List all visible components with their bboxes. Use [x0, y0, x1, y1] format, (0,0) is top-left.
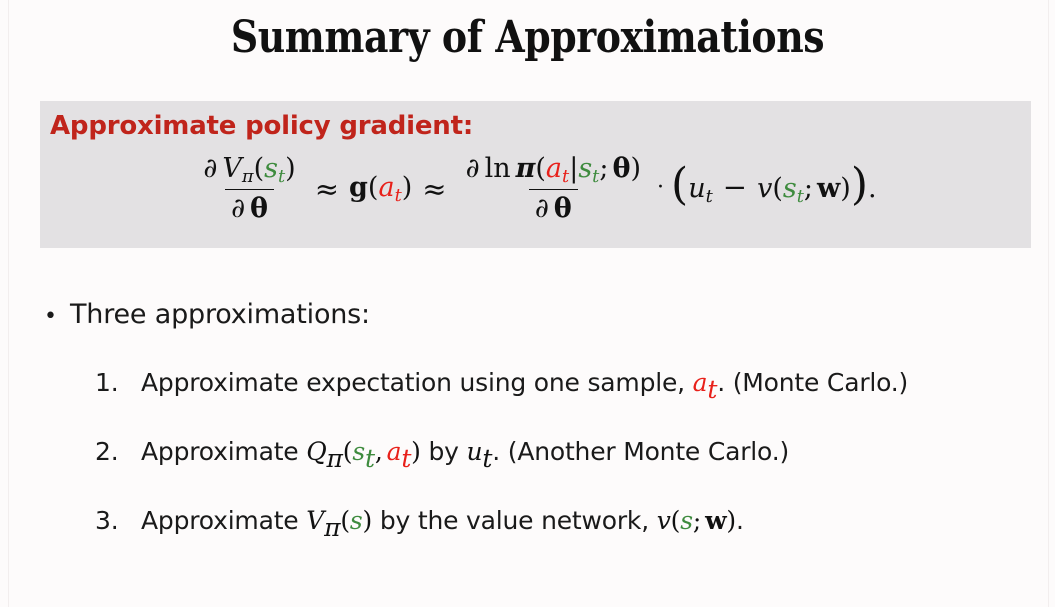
action-symbol: a	[693, 368, 708, 397]
left-fraction-denominator: ∂θ	[225, 189, 274, 224]
state-symbol: s	[578, 153, 592, 184]
list-item-prefix: Approximate expectation using one sample…	[141, 368, 693, 397]
close-paren: )	[630, 153, 641, 184]
comma: ,	[375, 437, 383, 466]
open-paren: (	[671, 506, 681, 535]
semicolon: ;	[804, 173, 813, 204]
left-fraction: ∂Vπ(st) ∂θ	[197, 153, 301, 225]
minus-symbol: −	[723, 170, 747, 204]
right-fraction-denominator: ∂θ	[529, 189, 578, 224]
return-symbol: u	[688, 173, 705, 204]
action-value-function-symbol: Q	[306, 437, 326, 466]
weights-symbol: w	[705, 506, 726, 535]
bullet-label: Three approximations:	[70, 299, 370, 330]
value-function-subscript: π	[242, 166, 254, 187]
state-symbol: s	[352, 437, 365, 466]
action-symbol: a	[378, 172, 394, 203]
bullet-dot-icon: •	[44, 306, 70, 328]
list-item-prefix: Approximate	[141, 506, 306, 535]
theta-symbol: θ	[250, 193, 268, 224]
list-item-text: Approximate Vπ(s) by the value network, …	[141, 506, 744, 542]
big-open-paren: (	[671, 159, 688, 210]
partial-symbol: ∂	[231, 193, 245, 224]
value-function-symbol: V	[306, 506, 324, 535]
list-item-marker: 2.	[95, 437, 141, 466]
open-paren: (	[254, 153, 265, 184]
action-subscript: t	[707, 375, 717, 404]
value-network-symbol: v	[657, 506, 671, 535]
partial-symbol: ∂	[535, 193, 549, 224]
right-fraction-numerator: ∂lnπ(at|st;θ)	[460, 153, 647, 189]
slide-left-edge	[8, 0, 9, 607]
semicolon: ;	[693, 506, 701, 535]
open-paren: (	[772, 173, 783, 204]
list-item-middle: by	[421, 437, 467, 466]
theta-symbol: θ	[554, 193, 572, 224]
action-subscript: t	[395, 185, 402, 206]
close-paren: )	[726, 506, 736, 535]
state-symbol: s	[680, 506, 693, 535]
dot-operator: ·	[657, 175, 664, 200]
state-symbol: s	[783, 173, 797, 204]
list-item-middle: by the value network,	[372, 506, 657, 535]
conditional-bar: |	[569, 153, 578, 184]
list-item-marker: 1.	[95, 368, 141, 397]
partial-symbol: ∂	[466, 153, 480, 184]
weights-symbol: w	[817, 173, 840, 204]
left-fraction-numerator: ∂Vπ(st)	[197, 153, 301, 189]
return-symbol: u	[467, 437, 483, 466]
theta-symbol: θ	[612, 153, 630, 184]
state-subscript: t	[365, 444, 375, 473]
list-item-suffix: . (Another Monte Carlo.)	[492, 437, 789, 466]
return-subscript: t	[706, 186, 713, 207]
return-subscript: t	[482, 444, 492, 473]
formula-panel: Approximate policy gradient: ∂Vπ(st) ∂θ …	[40, 101, 1031, 248]
action-value-function-subscript: π	[327, 444, 343, 473]
formula-panel-heading: Approximate policy gradient:	[50, 111, 473, 141]
slide-right-edge	[1048, 0, 1049, 607]
gradient-symbol: g	[349, 172, 368, 203]
natural-log-symbol: ln	[485, 153, 511, 184]
bullet-line: • Three approximations:	[44, 299, 1034, 330]
period: .	[868, 173, 877, 204]
list-item-suffix: . (Monte Carlo.)	[717, 368, 908, 397]
policy-symbol: π	[516, 153, 536, 184]
close-paren: )	[411, 437, 421, 466]
action-symbol: a	[387, 437, 402, 466]
bullet-intro: • Three approximations:	[44, 299, 1034, 330]
approx-symbol-1: ≈	[315, 172, 339, 206]
open-paren: (	[535, 153, 546, 184]
page-title: Summary of Approximations	[74, 14, 981, 62]
list-item: 3. Approximate Vπ(s) by the value networ…	[95, 506, 1035, 542]
close-paren: )	[363, 506, 373, 535]
action-symbol: a	[546, 153, 562, 184]
close-paren: )	[285, 153, 296, 184]
state-symbol: s	[264, 153, 278, 184]
big-close-paren: )	[851, 159, 868, 210]
policy-gradient-formula: ∂Vπ(st) ∂θ ≈ g(at) ≈ ∂lnπ(at|st;θ) ∂θ · …	[40, 153, 1031, 225]
list-item: 2. Approximate Qπ(st,at) by ut. (Another…	[95, 437, 1035, 473]
value-network-symbol: v	[757, 173, 772, 204]
advantage-term: (ut−v(st;w)).	[671, 170, 877, 207]
right-fraction: ∂lnπ(at|st;θ) ∂θ	[460, 153, 647, 225]
approximations-list: 1. Approximate expectation using one sam…	[95, 368, 1035, 575]
list-item-marker: 3.	[95, 506, 141, 535]
open-paren: (	[368, 172, 379, 203]
value-function-symbol: V	[222, 153, 242, 184]
open-paren: (	[340, 506, 350, 535]
list-item-suffix: .	[736, 506, 744, 535]
list-item-text: Approximate expectation using one sample…	[141, 368, 908, 404]
close-paren: )	[840, 173, 851, 204]
gradient-term: g(at)	[349, 172, 412, 206]
list-item: 1. Approximate expectation using one sam…	[95, 368, 1035, 404]
action-subscript: t	[401, 444, 411, 473]
close-paren: )	[402, 172, 413, 203]
open-paren: (	[343, 437, 353, 466]
state-symbol: s	[350, 506, 363, 535]
approx-symbol-2: ≈	[422, 172, 446, 206]
partial-symbol: ∂	[203, 153, 217, 184]
state-subscript: t	[797, 186, 804, 207]
list-item-text: Approximate Qπ(st,at) by ut. (Another Mo…	[141, 437, 789, 473]
semicolon: ;	[599, 153, 608, 184]
value-function-subscript: π	[324, 513, 340, 542]
list-item-prefix: Approximate	[141, 437, 306, 466]
